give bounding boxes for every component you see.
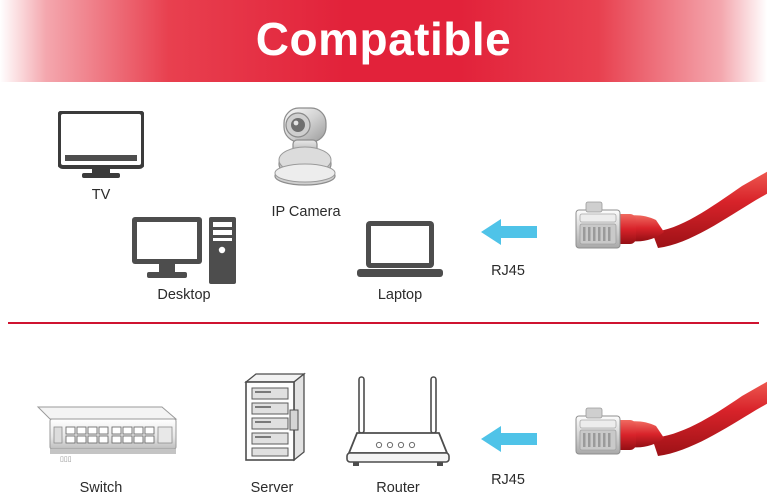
left-arrow-icon-bottom (481, 424, 537, 459)
router-label: Router (345, 480, 451, 496)
page-title: Compatible (256, 16, 511, 62)
tv-label: TV (48, 187, 154, 203)
desktop-label: Desktop (131, 287, 237, 303)
rj45-label-top: RJ45 (458, 263, 558, 279)
server-label: Server (220, 480, 324, 496)
ethernet-cable-top (560, 170, 767, 305)
network-switch-icon: ▯▯▯ (36, 405, 184, 472)
television-icon (58, 111, 144, 184)
laptop-label: Laptop (347, 287, 453, 303)
switch-label: Switch (46, 480, 156, 496)
header-banner: Compatible (0, 0, 767, 82)
svg-text:▯▯▯: ▯▯▯ (60, 456, 72, 463)
section-divider (8, 322, 759, 324)
wireless-router-icon (345, 375, 451, 478)
ip-camera-label: IP Camera (248, 204, 364, 220)
server-rack-icon (236, 370, 306, 475)
ip-camera-icon (270, 104, 342, 195)
left-arrow-icon (481, 217, 537, 252)
compatibility-diagram: Compatible TV (0, 0, 767, 499)
desktop-computer-icon (131, 216, 237, 291)
laptop-icon (357, 220, 443, 287)
rj45-label-bottom: RJ45 (458, 472, 558, 488)
ethernet-cable-bottom (560, 378, 767, 499)
